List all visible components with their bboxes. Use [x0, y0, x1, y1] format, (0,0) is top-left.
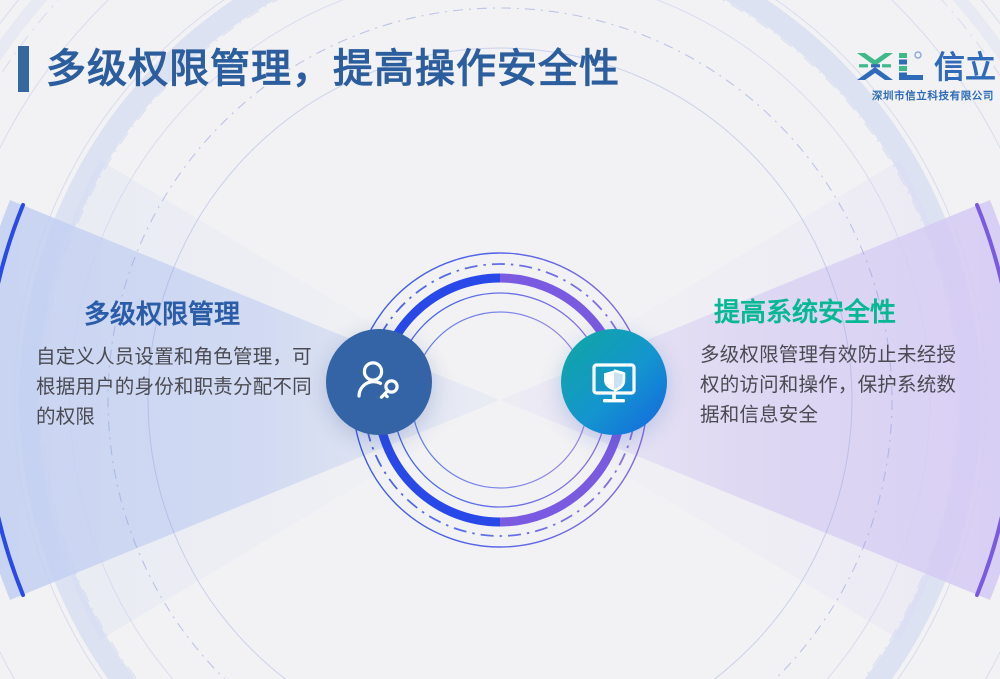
- brand-logo: 信立 深圳市信立科技有限公司: [848, 44, 996, 103]
- feature-panel-right: 提高系统安全性 多级权限管理有效防止未经授权的访问和操作，保护系统数据和信息安全: [700, 298, 986, 431]
- feature-body-left: 自定义人员设置和角色管理，可根据用户的身份和职责分配不同的权限: [36, 342, 314, 433]
- node-left-permission[interactable]: [326, 329, 432, 435]
- title-accent-bar: [18, 46, 29, 92]
- node-right-security[interactable]: [561, 329, 667, 435]
- monitor-shield-icon: [586, 354, 642, 410]
- page-title-group: 多级权限管理，提高操作安全性: [18, 46, 620, 92]
- feature-body-right: 多级权限管理有效防止未经授权的访问和操作，保护系统数据和信息安全: [700, 340, 970, 431]
- xl-monogram-icon: [855, 50, 929, 84]
- company-full-name: 深圳市信立科技有限公司: [848, 88, 996, 103]
- slide-header: 多级权限管理，提高操作安全性: [0, 0, 1000, 130]
- slide-canvas: 多级权限管理，提高操作安全性: [0, 0, 1000, 679]
- brand-name-cn: 信立: [934, 52, 996, 83]
- page-title: 多级权限管理，提高操作安全性: [46, 49, 620, 89]
- user-key-icon: [351, 354, 407, 410]
- feature-heading-left: 多级权限管理: [36, 300, 322, 330]
- feature-panel-left: 多级权限管理 自定义人员设置和角色管理，可根据用户的身份和职责分配不同的权限: [36, 300, 322, 433]
- feature-heading-right: 提高系统安全性: [700, 298, 986, 328]
